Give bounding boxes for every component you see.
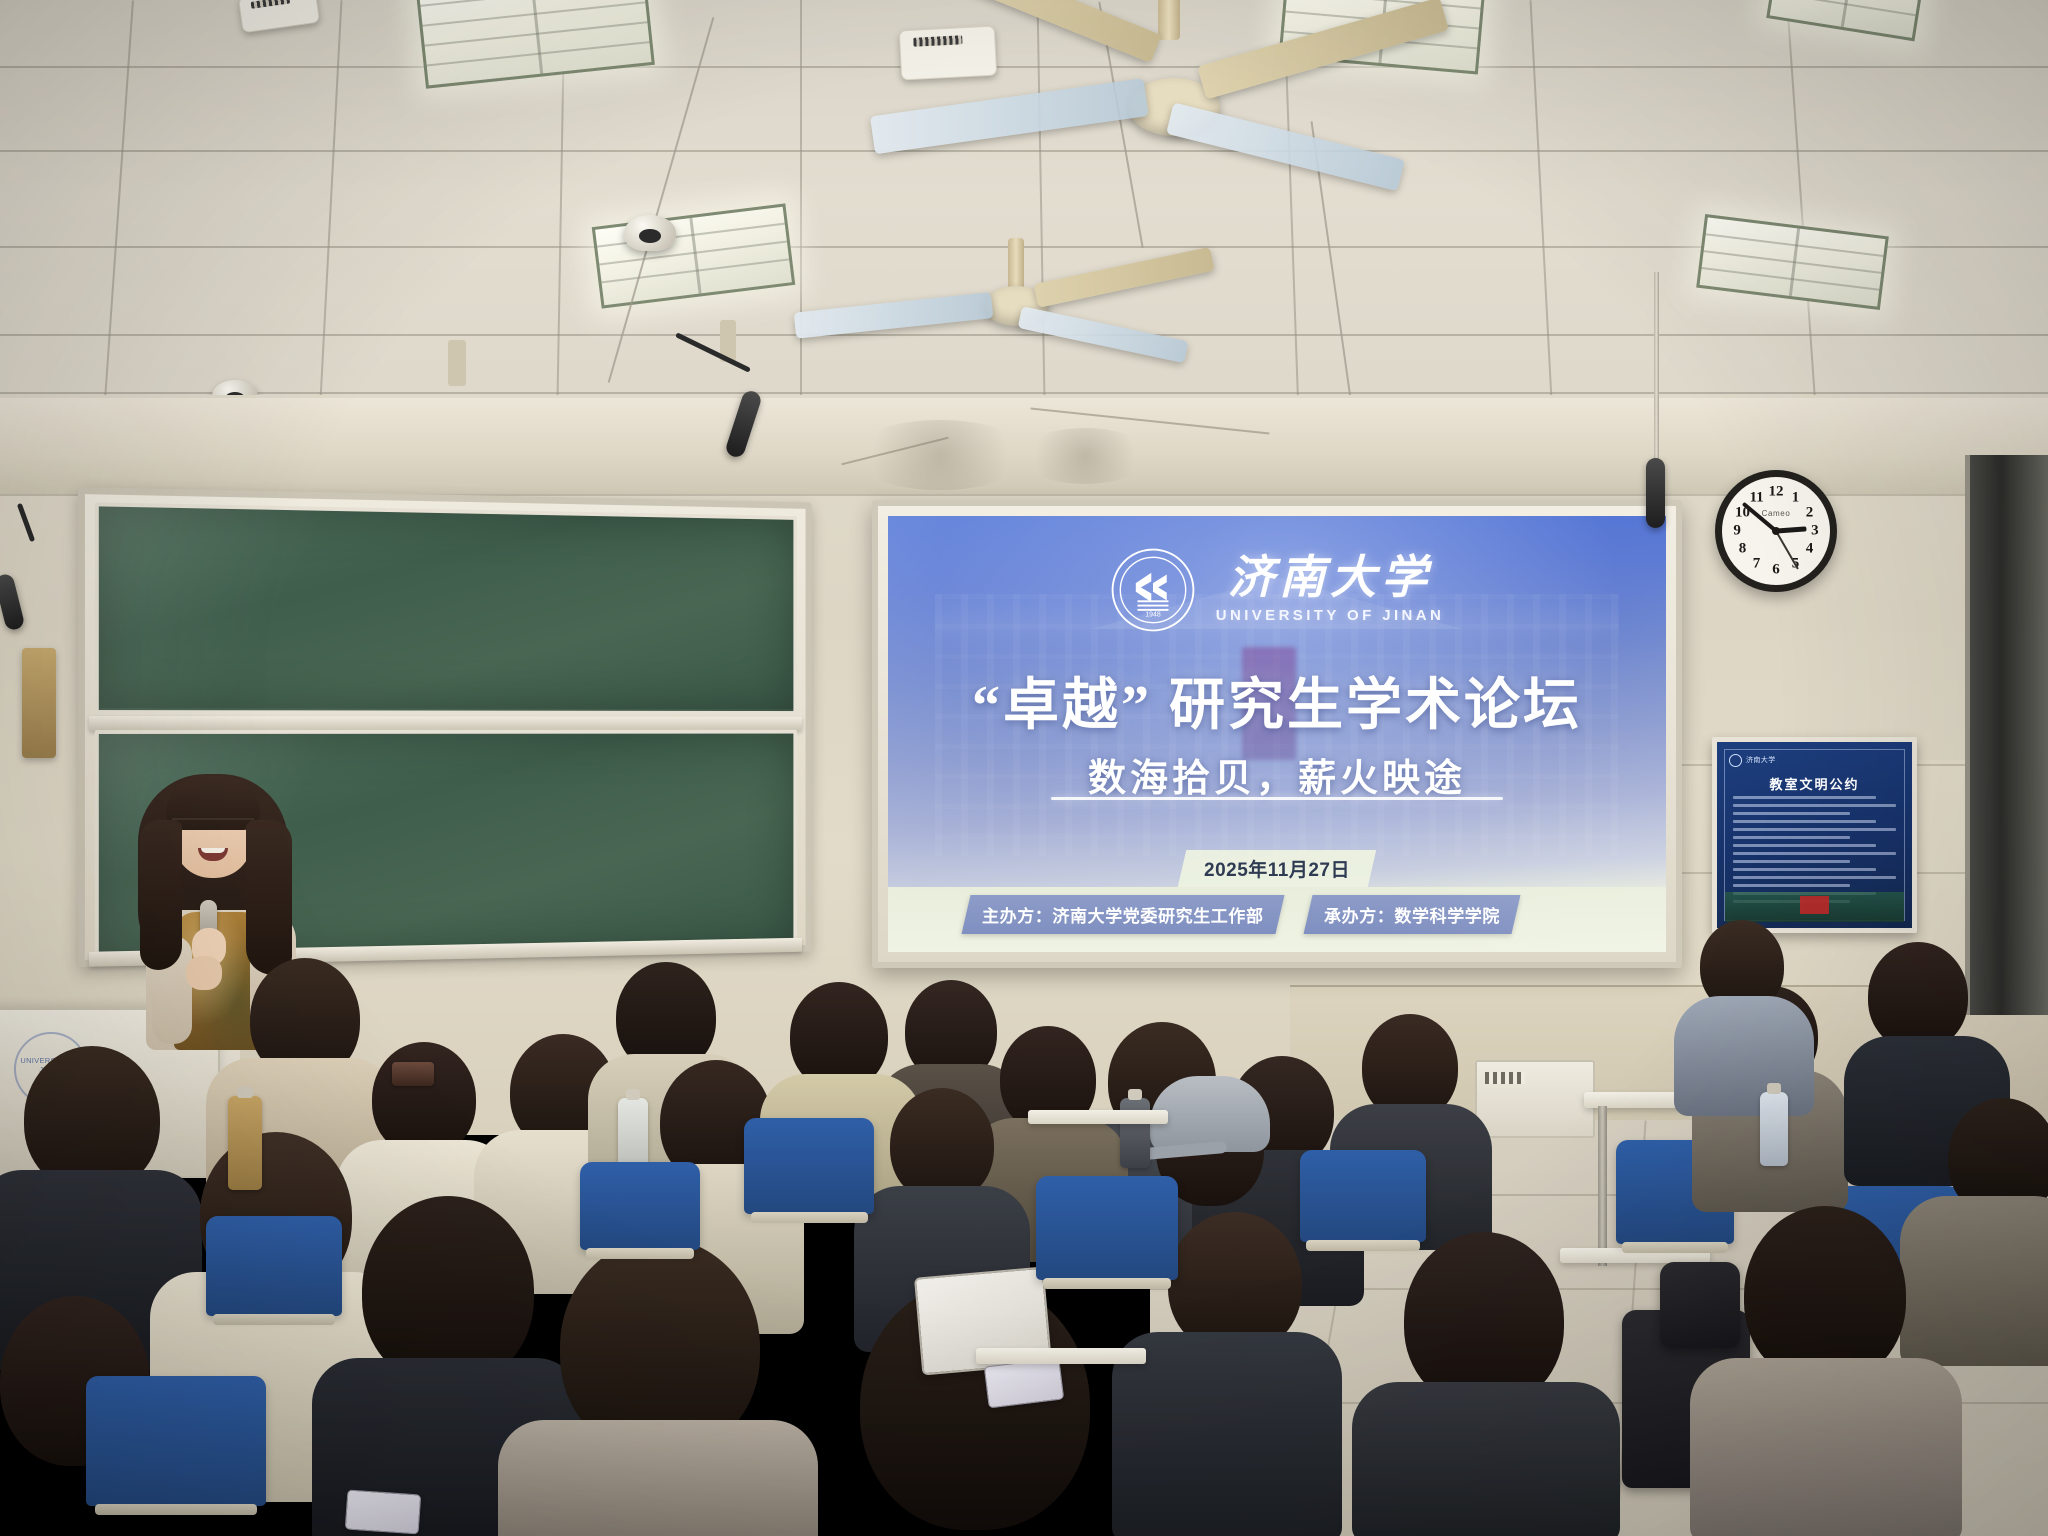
- clock-brand: Cameo: [1762, 509, 1791, 518]
- lecture-chair[interactable]: [1036, 1176, 1178, 1280]
- water-bottle[interactable]: [1760, 1092, 1788, 1166]
- sprinkler-head: [448, 340, 466, 386]
- smartphone[interactable]: [345, 1489, 422, 1534]
- hair-clip: [392, 1062, 434, 1086]
- lecture-chair[interactable]: [744, 1118, 874, 1214]
- chalkboard-panel-upper: [95, 502, 797, 714]
- wall-hook-plate: [22, 648, 56, 758]
- notice-seal-icon: [1729, 754, 1742, 767]
- slide-organizer-chip-host: 主办方：济南大学党委研究生工作部: [961, 895, 1284, 934]
- audience-body: [1690, 1358, 1962, 1536]
- notice-footer-image: [1725, 892, 1904, 922]
- water-bottle[interactable]: [228, 1096, 262, 1190]
- clock-hour-hand: [1776, 526, 1806, 533]
- slide-organizer-chip-coorganizer: 承办方：数学科学学院: [1304, 895, 1521, 934]
- slide-subtitle-rule: [1051, 797, 1502, 800]
- backpack: [1660, 1262, 1740, 1348]
- baseball-cap: [1150, 1076, 1270, 1152]
- lecture-chair[interactable]: [86, 1376, 266, 1506]
- classroom-photo-scene: 1948 济南大学 UNIVERSITY OF JINAN “卓越” 研究生学术…: [0, 0, 2048, 1536]
- desk-leg: [1598, 1106, 1607, 1266]
- ceiling-fan: [880, 250, 1210, 370]
- slide-subtitle: 数海拾贝，薪火映途: [888, 747, 1666, 802]
- ceiling: [0, 0, 2048, 430]
- organizer-host-label: 主办方：济南大学党委研究生工作部: [982, 902, 1264, 927]
- wall-radiator-box: [1475, 1060, 1595, 1138]
- slide-title: “卓越” 研究生学术论坛: [888, 660, 1666, 741]
- student-desk: [976, 1348, 1146, 1364]
- university-wordmark: 济南大学 UNIVERSITY OF JINAN: [1216, 555, 1445, 624]
- ceiling-fan: [980, 0, 1450, 170]
- wall-clock: Cameo 12 1 2 3 4 5 6 7 8 9 10 11: [1715, 470, 1837, 592]
- microphone-boom: [672, 350, 802, 500]
- presenter-glasses: [172, 818, 254, 833]
- audience-body: [1900, 1196, 2048, 1366]
- university-name-en: UNIVERSITY OF JINAN: [1216, 607, 1445, 624]
- notice-title: 教室文明公约: [1717, 774, 1912, 793]
- presentation-slide: 1948 济南大学 UNIVERSITY OF JINAN “卓越” 研究生学术…: [888, 516, 1666, 952]
- audience-head: [372, 1042, 476, 1156]
- wall-smudge: [1020, 428, 1150, 484]
- clock-center-pin: [1772, 527, 1780, 535]
- audience-body: [1352, 1382, 1620, 1536]
- slide-date-text: 2025年11月27日: [1204, 855, 1350, 882]
- microphone-boom-left: [0, 520, 50, 660]
- university-name-cn: 济南大学: [1228, 555, 1432, 601]
- audience-head: [1868, 942, 1968, 1050]
- lecture-chair[interactable]: [1300, 1150, 1426, 1242]
- svg-text:1948: 1948: [1145, 611, 1160, 618]
- lecture-chair[interactable]: [206, 1216, 342, 1316]
- lecture-chair[interactable]: [580, 1162, 700, 1250]
- student-desk: [1028, 1110, 1168, 1124]
- thermos[interactable]: [1120, 1098, 1150, 1168]
- chalk-tray: [89, 716, 802, 731]
- audience-body: [1674, 996, 1814, 1116]
- notice-org-mark: 济南大学: [1746, 755, 1776, 765]
- door-frame[interactable]: [1965, 455, 2048, 1015]
- organizer-coorganizer-label: 承办方：数学科学学院: [1324, 902, 1500, 927]
- projection-screen[interactable]: 1948 济南大学 UNIVERSITY OF JINAN “卓越” 研究生学术…: [872, 500, 1682, 968]
- audience-head: [890, 1088, 994, 1202]
- classroom-notice-board: 济南大学 教室文明公约: [1712, 737, 1917, 933]
- wall-smudge: [850, 420, 1030, 490]
- microphone-boom: [1632, 272, 1692, 532]
- slide-logo-row: 1948 济南大学 UNIVERSITY OF JINAN: [888, 547, 1666, 633]
- slide-date-badge: 2025年11月27日: [1178, 850, 1377, 887]
- university-seal-icon: 1948: [1110, 547, 1196, 633]
- security-camera: [624, 215, 676, 251]
- audience-body: [1112, 1332, 1342, 1536]
- audience-body: [498, 1420, 818, 1536]
